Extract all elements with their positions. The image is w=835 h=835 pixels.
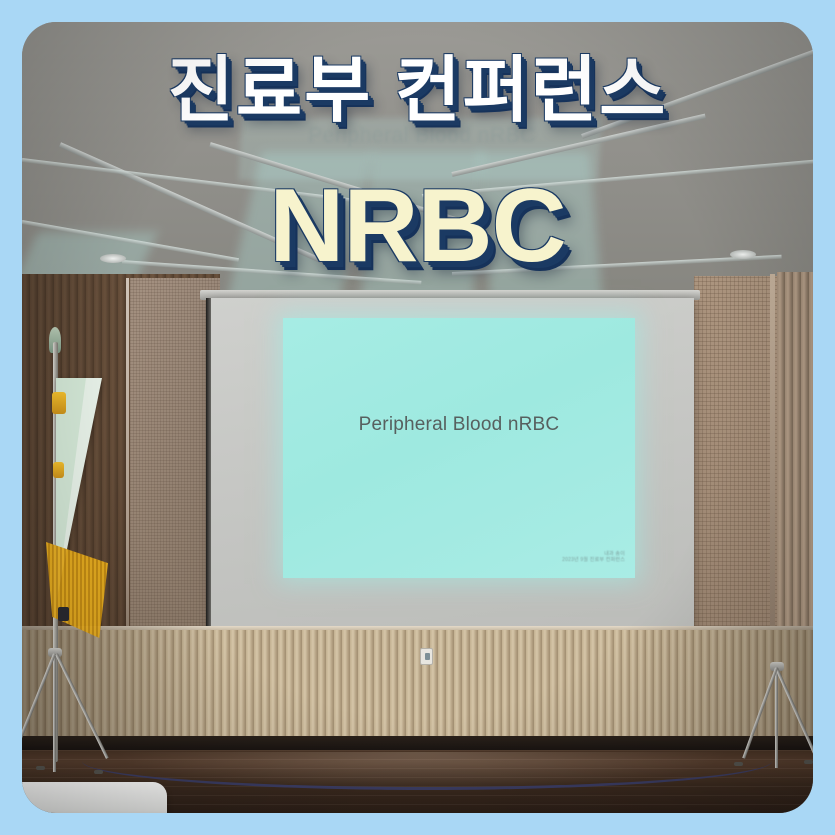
right-wood-slat-wall — [777, 272, 813, 674]
tripod-foot — [804, 760, 813, 764]
slide-footer: 내과 송이 2023년 9월 진료부 컨퍼런스 — [562, 551, 625, 565]
projected-slide: Peripheral Blood nRBC 내과 송이 2023년 9월 진료부… — [283, 318, 635, 578]
tripod-foot — [94, 770, 103, 774]
overlay-title-english: NRBC — [22, 174, 813, 278]
right-wall-trim — [770, 274, 775, 674]
flag-tassel-middle — [53, 462, 64, 478]
tripod-leg — [53, 654, 56, 772]
conference-room-photo: Peripheral Blood nRBC Peripheral Blood n… — [22, 22, 813, 813]
white-table — [22, 782, 167, 813]
image-frame: Peripheral Blood nRBC Peripheral Blood n… — [0, 0, 835, 835]
slide-footer-line-2: 2023년 9월 진료부 컨퍼런스 — [562, 557, 625, 564]
flag-emblem — [58, 607, 69, 621]
wainscot-left-shading — [22, 626, 222, 744]
flag-tassel-upper — [52, 392, 66, 414]
slide-title: Peripheral Blood nRBC — [283, 414, 635, 436]
tripod-foot — [734, 762, 743, 766]
tripod-foot — [36, 766, 45, 770]
overlay-title-korean: 진료부 컨퍼런스 — [22, 54, 813, 130]
wall-power-outlet — [420, 648, 433, 665]
projector-screen-left-shadow — [206, 298, 211, 630]
tripod-leg — [775, 668, 778, 768]
